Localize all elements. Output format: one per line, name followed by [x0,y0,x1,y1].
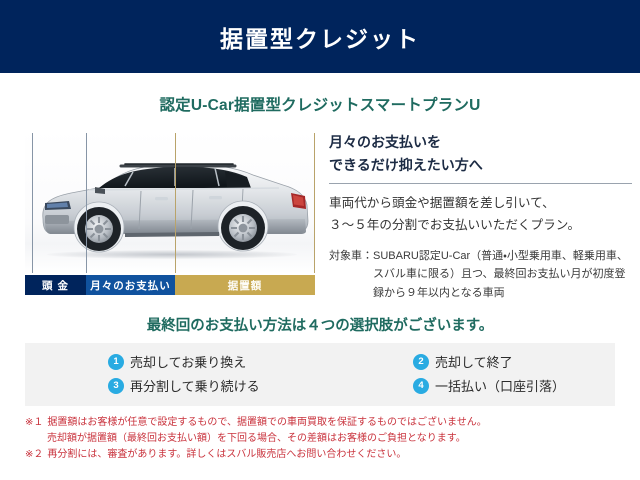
segment-divider-end [314,133,315,273]
option-item-4[interactable]: 4 一括払い（口座引落） [413,376,615,395]
vehicle-cost-structure: 頭 金 月々のお支払い 据置額 [25,129,315,295]
footnote-1-mark: ※１ [25,415,47,431]
eligible-vehicles: 対象車： SUBARU認定U-Car（普通・小型乗用車、軽乗用車、スバル車に限る… [329,247,632,302]
footnote-1-text: 据置額はお客様が任意で設定するもので、据置額での車両買取を保証するものではござい… [47,415,615,431]
final-payment-options-grid: 1 売却してお乗り換え 2 売却して終了 3 再分割して乗り続ける 4 一括払い… [25,352,615,395]
final-payment-heading: 最終回のお支払い方法は４つの選択肢がございます。 [0,314,640,335]
footnotes: ※１ 据置額はお客様が任意で設定するもので、据置額での車両買取を保証するものでは… [25,415,615,464]
option-number-badge-1: 1 [108,354,124,370]
main-content-area: 頭 金 月々のお支払い 据置額 月々のお支払いを できるだけ抑えたい方へ 車両代… [0,129,640,302]
plan-description-heading: 月々のお支払いを できるだけ抑えたい方へ [329,131,632,176]
footnote-1-continuation: 売却額が据置額（最終回お支払い額）を下回る場合、その差額はお客様のご負担となりま… [25,431,615,447]
segment-divider-monthly [175,133,176,273]
plan-description: 月々のお支払いを できるだけ抑えたい方へ 車両代から頭金や据置額を差し引いて、 … [315,129,632,302]
option-item-3[interactable]: 3 再分割して乗り続ける [108,376,413,395]
cost-structure-bar: 頭 金 月々のお支払い 据置額 [25,275,315,295]
footnote-2: ※２ 再分割には、審査があります。詳しくはスバル販売店へお問い合わせください。 [25,447,615,463]
option-label-3: 再分割して乗り続ける [130,376,260,395]
cost-segment-residual: 据置額 [175,275,315,295]
eligible-vehicles-value: SUBARU認定U-Car（普通・小型乗用車、軽乗用車、スバル車に限る）且つ、最… [373,247,632,302]
footnote-2-mark: ※２ [25,447,47,463]
plan-body-line-1: 車両代から頭金や据置額を差し引いて、 [329,193,632,215]
final-payment-options-panel: 1 売却してお乗り換え 2 売却して終了 3 再分割して乗り続ける 4 一括払い… [25,343,615,406]
cost-segment-monthly: 月々のお支払い [86,275,175,295]
option-label-4: 一括払い（口座引落） [435,376,565,395]
footnote-1: ※１ 据置額はお客様が任意で設定するもので、据置額での車両買取を保証するものでは… [25,415,615,431]
heading-divider [329,183,632,184]
plan-heading-line-2: できるだけ抑えたい方へ [329,154,632,177]
eligible-vehicles-label: 対象車： [329,247,373,302]
segment-divider-downpayment [86,133,87,273]
plan-body-line-2: ３〜５年の分割でお支払いいただくプラン。 [329,215,632,237]
page-header-banner: 据置型クレジット [0,0,640,73]
option-label-1: 売却してお乗り換え [130,352,246,371]
option-item-1[interactable]: 1 売却してお乗り換え [108,352,413,371]
option-number-badge-4: 4 [413,378,429,394]
vehicle-photo [25,129,315,273]
footnote-2-text: 再分割には、審査があります。詳しくはスバル販売店へお問い合わせください。 [47,447,615,463]
segment-divider-start [32,133,33,273]
plan-subtitle: 認定U-Car据置型クレジットスマートプランU [0,93,640,115]
option-item-2[interactable]: 2 売却して終了 [413,352,615,371]
option-number-badge-2: 2 [413,354,429,370]
page-title: 据置型クレジット [220,20,420,54]
option-number-badge-3: 3 [108,378,124,394]
option-label-2: 売却して終了 [435,352,513,371]
plan-description-body: 車両代から頭金や据置額を差し引いて、 ３〜５年の分割でお支払いいただくプラン。 [329,193,632,236]
plan-heading-line-1: 月々のお支払いを [329,131,632,154]
suv-vehicle-icon [29,141,315,265]
cost-segment-downpayment: 頭 金 [25,275,86,295]
